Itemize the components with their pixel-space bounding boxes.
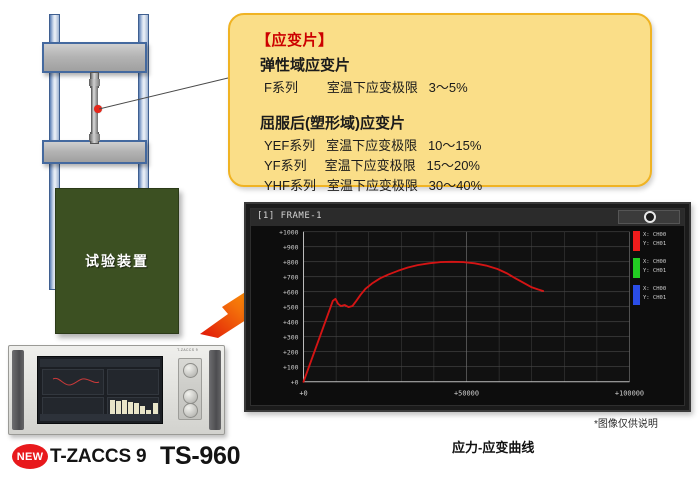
measurement-window-inner: [1] FRAME-1 +0+100+200+300+400+500+600+7…	[250, 208, 685, 406]
measurement-window[interactable]: [1] FRAME-1 +0+100+200+300+400+500+600+7…	[244, 202, 691, 412]
svg-text:+0: +0	[291, 380, 299, 387]
device-knob-mid-icon	[183, 389, 198, 404]
rig-upper-crosshead	[42, 42, 147, 73]
callout-section2-row: YEF系列 室温下应变极限 10～15%	[264, 135, 650, 154]
stress-strain-plot: +0+100+200+300+400+500+600+700+800+900+1…	[251, 226, 684, 405]
new-badge-label: NEW	[17, 451, 44, 463]
callout-section1-heading: 弹性域应变片	[260, 54, 650, 75]
chart-caption: 应力-应变曲线	[452, 437, 534, 456]
legend-item: X: CH00 Y: CH01	[633, 231, 681, 251]
window-title: [1] FRAME-1	[257, 211, 322, 221]
display-softkeys	[40, 414, 160, 421]
plot-area: +0+100+200+300+400+500+600+700+800+900+1…	[251, 226, 684, 405]
product-model: TS-960	[160, 442, 240, 471]
legend-swatch-green	[633, 258, 640, 278]
svg-text:+0: +0	[299, 389, 307, 397]
callout-spacer	[256, 97, 650, 109]
legend-x-label: X: CH00	[643, 258, 666, 267]
legend-labels: X: CH00 Y: CH01	[643, 258, 666, 276]
legend-labels: X: CH00 Y: CH01	[643, 231, 666, 249]
product-name: T-ZACCS 9	[50, 446, 146, 468]
device-brand-label: T-ZACCS 9	[177, 348, 198, 352]
legend-swatch-red	[633, 231, 640, 251]
instrument-photo: T-ZACCS 9	[8, 345, 225, 435]
test-machine-body: 试验装置	[55, 188, 179, 334]
svg-text:+400: +400	[283, 320, 299, 327]
rack-handle-left	[12, 350, 24, 430]
test-apparatus-diagram: 试验装置	[28, 8, 193, 328]
display-toolbar	[40, 359, 160, 367]
svg-text:+500: +500	[283, 305, 299, 312]
legend-item: X: CH00 Y: CH01	[633, 285, 681, 305]
svg-text:+700: +700	[283, 275, 299, 282]
callout-section2-row: YF系列 室温下应变极限 15～20%	[264, 155, 650, 174]
callout-title: 【应变片】	[256, 29, 650, 50]
svg-text:+800: +800	[283, 260, 299, 267]
legend-labels: X: CH00 Y: CH01	[643, 285, 666, 303]
svg-text:+1000: +1000	[279, 230, 299, 237]
device-control-panel	[178, 358, 202, 420]
legend-item: X: CH00 Y: CH01	[633, 258, 681, 278]
poster-canvas: 试验装置 【应变片】 弹性域应变片 F系列 室温下应变极限 3～5% 屈服后(塑…	[0, 0, 700, 479]
svg-text:+50000: +50000	[454, 389, 479, 397]
callout-section2-heading: 屈服后(塑形域)应变片	[260, 112, 650, 133]
legend-y-label: Y: CH01	[643, 294, 666, 303]
callout-section2-row: YHF系列 室温下应变极限 30～40%	[264, 175, 650, 194]
strain-gauge-callout: 【应变片】 弹性域应变片 F系列 室温下应变极限 3～5% 屈服后(塑形域)应变…	[228, 13, 652, 187]
strain-gauge-marker-icon	[94, 105, 102, 113]
legend-x-label: X: CH00	[643, 285, 666, 294]
new-badge: NEW	[12, 444, 48, 469]
disclaimer-caption: *图像仅供说明	[594, 415, 658, 430]
svg-text:+600: +600	[283, 290, 299, 297]
svg-text:+900: +900	[283, 245, 299, 252]
callout-section1-row: F系列 室温下应变极限 3～5%	[264, 77, 650, 96]
device-knob-top-icon	[183, 363, 198, 378]
test-machine-label: 试验装置	[56, 251, 178, 271]
window-titlebar: [1] FRAME-1	[251, 209, 684, 227]
svg-text:+100: +100	[283, 365, 299, 372]
channel-legend: X: CH00 Y: CH01 X: CH00 Y: CH01 X: CH00	[633, 231, 681, 312]
svg-text:+200: +200	[283, 350, 299, 357]
device-display	[37, 356, 163, 424]
svg-text:+100000: +100000	[615, 389, 644, 397]
legend-x-label: X: CH00	[643, 231, 666, 240]
display-meter-pane	[107, 369, 159, 395]
device-knob-bottom-icon	[183, 403, 198, 418]
legend-swatch-blue	[633, 285, 640, 305]
rack-handle-right	[209, 350, 221, 430]
record-button-icon[interactable]	[644, 211, 656, 223]
svg-text:+300: +300	[283, 335, 299, 342]
legend-y-label: Y: CH01	[643, 240, 666, 249]
display-waveform	[52, 373, 100, 391]
legend-y-label: Y: CH01	[643, 267, 666, 276]
